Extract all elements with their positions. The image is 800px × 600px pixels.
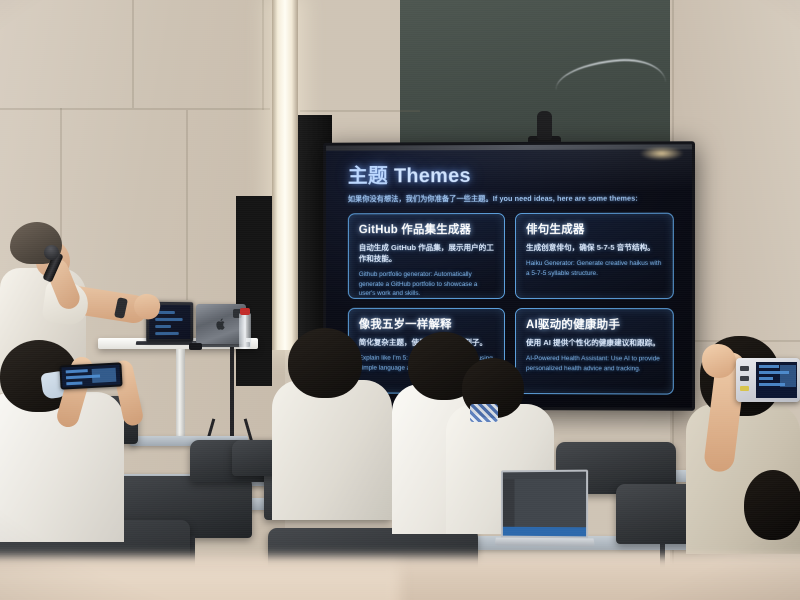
- slide-title-en: Themes: [394, 165, 471, 187]
- theme-card-text-cn: 自动生成 GitHub 作品集，展示用户的工作和技能。: [359, 242, 495, 264]
- lanyard-badge: [470, 404, 498, 422]
- theme-card-title: GitHub 作品集生成器: [359, 221, 495, 237]
- water-bottle: [239, 313, 251, 349]
- theme-card-title: 俳句生成器: [526, 221, 664, 237]
- phone-on-table: [189, 343, 202, 350]
- theme-card: AI驱动的健康助手 使用 AI 提供个性化的健康建议和跟踪。 AI-Powere…: [515, 308, 674, 395]
- theme-card: 俳句生成器 生成创意俳句，确保 5-7-5 音节结构。 Haiku Genera…: [515, 213, 674, 299]
- slide-title: 主题 Themes: [348, 158, 674, 188]
- editor-canvas: [515, 479, 587, 528]
- wall-dark-recess-left: [236, 196, 272, 386]
- phone-button-icon[interactable]: [740, 386, 749, 391]
- audience-head: [288, 328, 362, 398]
- slide-subtitle: 如果你没有想法，我们为你准备了一些主题。If you need ideas, h…: [348, 194, 674, 205]
- phone-button-icon[interactable]: [740, 366, 749, 371]
- theme-card-title: AI驱动的健康助手: [526, 316, 664, 332]
- wall-light-strip: [272, 0, 298, 350]
- theme-card-title: 像我五岁一样解释: [359, 316, 495, 332]
- theme-card: GitHub 作品集生成器 自动生成 GitHub 作品集，展示用户的工作和技能…: [348, 213, 505, 299]
- tripod-pole: [230, 330, 234, 450]
- audience-laptop[interactable]: [501, 470, 588, 539]
- slide-title-cn: 主题: [348, 165, 388, 187]
- theme-card-text-en: Github portfolio generator: Automaticall…: [359, 270, 495, 299]
- theme-card-text-en: Haiku Generator: Generate creative haiku…: [526, 259, 664, 278]
- wall-seam: [262, 0, 264, 110]
- phone-button-icon[interactable]: [740, 376, 749, 381]
- wall-seam: [186, 110, 188, 300]
- phone-screen: [756, 362, 797, 398]
- theme-card-text-cn: 生成创意俳句，确保 5-7-5 音节结构。: [526, 242, 664, 253]
- laptop-keyboard[interactable]: [494, 538, 595, 547]
- laptop-screen: [501, 470, 588, 539]
- photo-scene: 主题 Themes 如果你没有想法，我们为你准备了一些主题。If you nee…: [0, 0, 800, 600]
- audience-phone-filming[interactable]: [736, 358, 800, 402]
- theme-card-text-en: AI-Powered Health Assistant: Use AI to p…: [526, 354, 664, 374]
- webcam-icon: [537, 111, 552, 140]
- editor-statusbar: [503, 527, 586, 537]
- display-highlight: [639, 146, 683, 160]
- audience-phone-recording[interactable]: [59, 362, 122, 389]
- audience-torso: [272, 380, 392, 520]
- wall-seam: [300, 110, 420, 112]
- foreground-desk-blur: [0, 566, 400, 600]
- apple-logo-icon: [216, 318, 227, 330]
- bottle-cap: [240, 308, 250, 315]
- hand: [702, 344, 736, 378]
- audience-head: [744, 470, 800, 540]
- table-leg: [176, 349, 185, 441]
- wall-seam: [132, 0, 134, 108]
- theme-card-text-cn: 使用 AI 提供个性化的健康建议和跟踪。: [526, 337, 664, 348]
- wall-seam: [0, 108, 270, 110]
- phone-screen: [62, 364, 121, 387]
- editor-sidebar: [503, 479, 515, 527]
